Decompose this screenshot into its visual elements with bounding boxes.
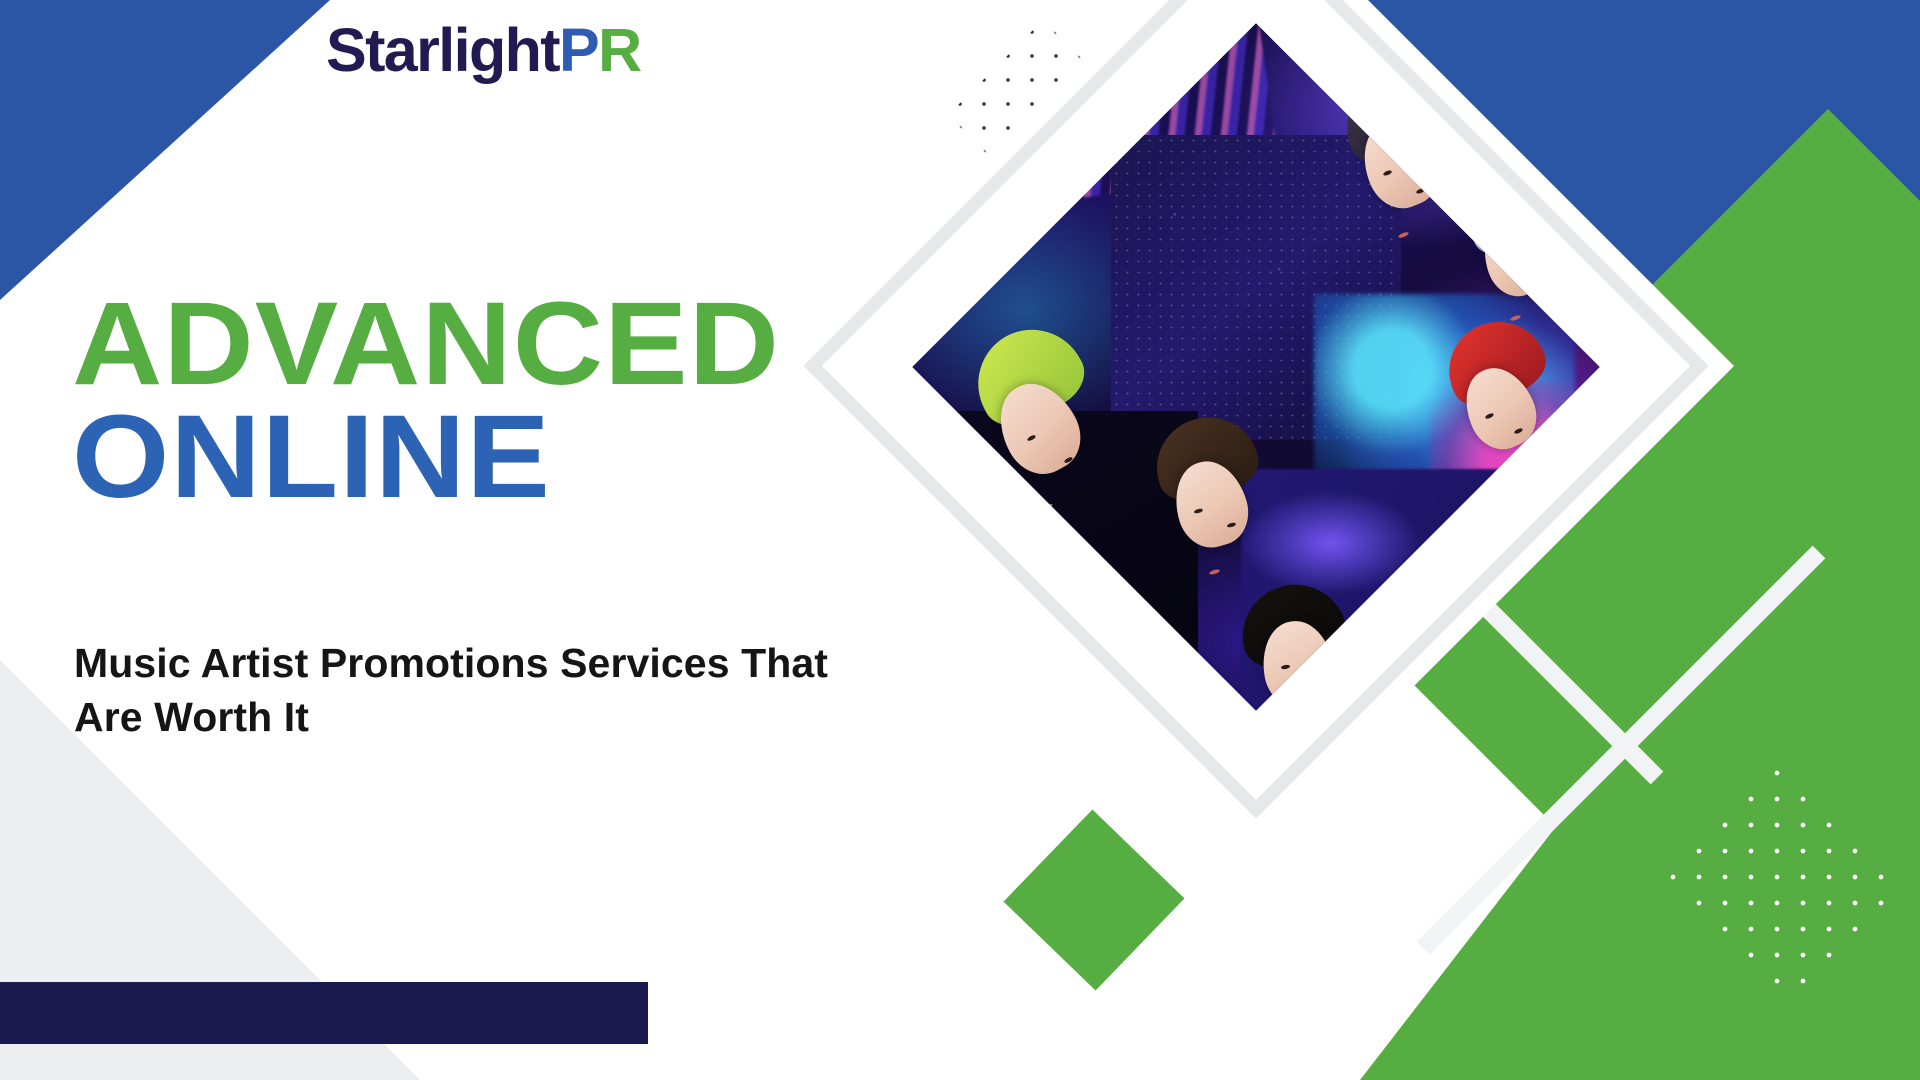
blue-corner-triangle-top-left: [0, 0, 330, 300]
logo-text-starlight: Starlight: [326, 16, 559, 84]
headline-line-2: ONLINE: [72, 401, 1143, 514]
navy-accent-bar: [0, 982, 648, 1044]
headline-line-1: ADVANCED: [72, 288, 1143, 401]
lips: [1208, 569, 1220, 576]
logo-text-p: P: [559, 16, 598, 84]
starlightpr-logo[interactable]: StarlightPR: [326, 20, 641, 81]
subtitle: Music Artist Promotions Services That Ar…: [74, 636, 904, 744]
logo-text-r: R: [598, 16, 640, 84]
page-title: ADVANCED ONLINE: [72, 288, 1082, 515]
small-green-diamond: [1004, 810, 1185, 991]
slide-canvas: StarlightPR ADVANCED ONLINE Music Artist…: [0, 0, 1920, 1080]
